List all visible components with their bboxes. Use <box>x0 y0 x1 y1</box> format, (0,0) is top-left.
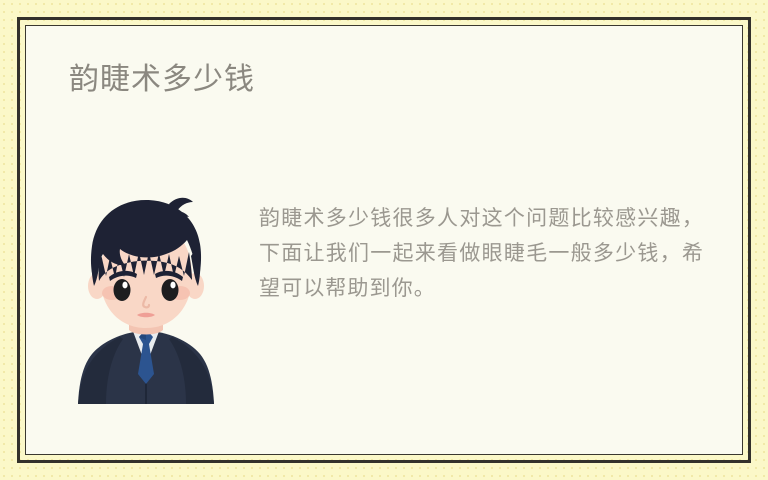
body-paragraph: 韵睫术多少钱很多人对这个问题比较感兴趣，下面让我们一起来看做眼睫毛一般多少钱，希… <box>259 201 704 306</box>
avatar-eye-right <box>162 279 179 301</box>
page-title: 韵睫术多少钱 <box>69 61 255 99</box>
male-student-avatar <box>65 194 227 404</box>
avatar-eye-left <box>114 279 131 301</box>
content-card: 韵睫术多少钱 <box>25 25 743 455</box>
poster-canvas: 韵睫术多少钱 <box>0 0 768 480</box>
